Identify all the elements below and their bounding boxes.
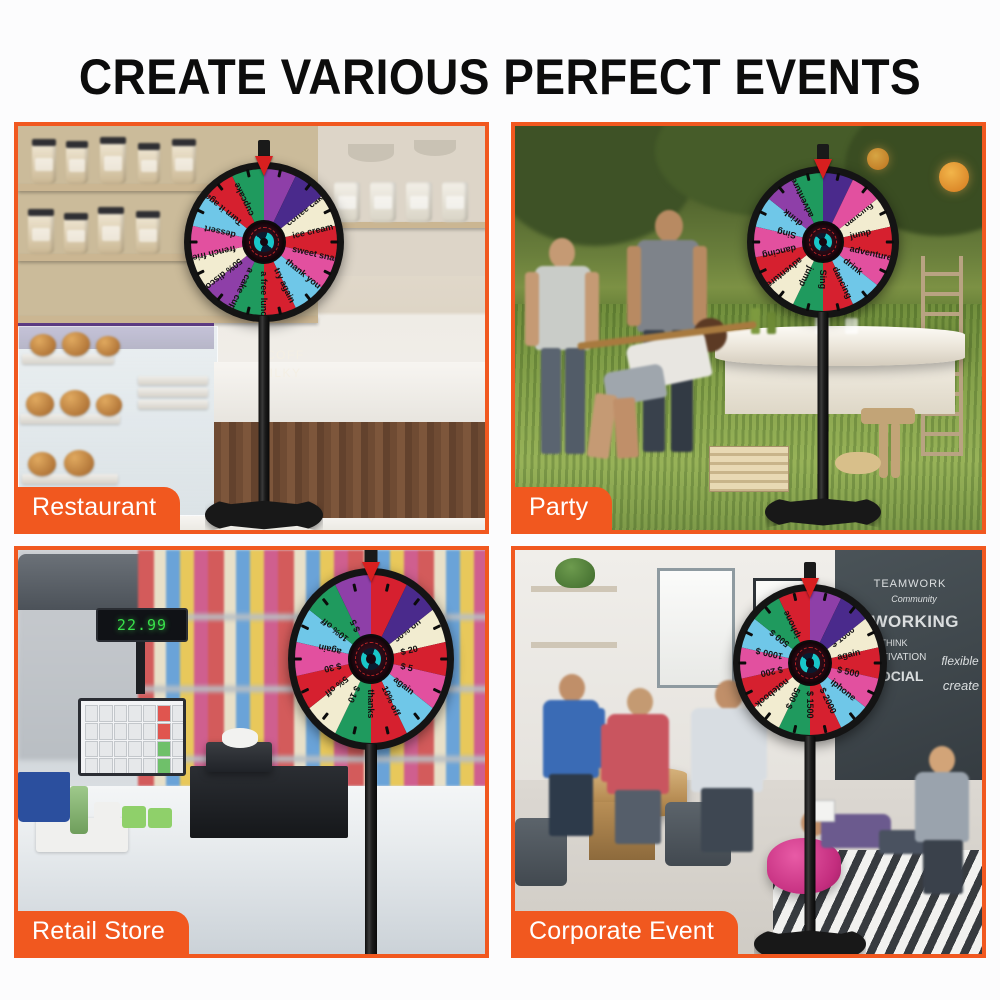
pos-key[interactable] bbox=[85, 741, 98, 758]
wheel-pole bbox=[259, 316, 270, 506]
hub-logo-icon bbox=[800, 653, 819, 673]
jar bbox=[98, 212, 124, 254]
pastry bbox=[64, 450, 94, 476]
pos-terminal-screen bbox=[78, 698, 186, 776]
wheel-pole bbox=[818, 312, 829, 504]
pos-key[interactable] bbox=[172, 705, 185, 722]
pos-key[interactable] bbox=[128, 723, 141, 740]
pos-key[interactable] bbox=[157, 705, 170, 722]
pos-key[interactable] bbox=[143, 723, 156, 740]
chalk-word-create: create bbox=[931, 678, 982, 693]
pos-key[interactable] bbox=[85, 723, 98, 740]
head bbox=[929, 746, 955, 774]
pos-display-stand bbox=[136, 642, 145, 694]
pos-key[interactable] bbox=[114, 758, 127, 775]
wheel-2[interactable]: jumpSingdancingjumpadventuredrinkdancing… bbox=[747, 166, 899, 318]
torso bbox=[607, 714, 669, 794]
wheel-peg bbox=[330, 241, 338, 244]
pointer-flag-icon bbox=[255, 156, 273, 176]
pos-key[interactable] bbox=[99, 705, 112, 722]
panel-retail-store[interactable]: 22.99 bbox=[14, 546, 489, 958]
wheel-peg bbox=[886, 241, 894, 244]
pos-key[interactable] bbox=[99, 758, 112, 775]
jar-lid bbox=[100, 137, 126, 144]
jar-lid bbox=[138, 143, 160, 150]
jar-lid bbox=[98, 207, 124, 214]
leg bbox=[541, 348, 561, 454]
wheel-peg bbox=[874, 662, 882, 665]
head bbox=[627, 688, 653, 716]
arm bbox=[601, 724, 615, 782]
pos-key[interactable] bbox=[143, 741, 156, 758]
prize-wheel-party[interactable]: jumpSingdancingjumpadventuredrinkdancing… bbox=[747, 144, 899, 530]
pos-customer-display: 22.99 bbox=[96, 608, 188, 642]
wheel-hub bbox=[348, 634, 394, 684]
cup bbox=[94, 802, 120, 826]
leg bbox=[613, 397, 639, 458]
wheel-base bbox=[765, 496, 881, 528]
wheel-pole bbox=[805, 736, 816, 936]
freezer-hood bbox=[18, 554, 148, 610]
torso bbox=[915, 772, 969, 842]
pos-key[interactable] bbox=[143, 705, 156, 722]
lantern bbox=[939, 162, 969, 192]
pastry bbox=[96, 394, 122, 416]
prize-wheel-restaurant[interactable]: cakefree coffeecoffee cakeice creamsweet… bbox=[184, 140, 344, 530]
jar-lid bbox=[64, 213, 88, 220]
pendant-lamp bbox=[348, 144, 394, 162]
panel-grid: COFF MILKY cakefree coffeecoffee cakeice… bbox=[14, 122, 986, 980]
pointer-flag-icon bbox=[814, 159, 832, 179]
badge-retail-store: Retail Store bbox=[18, 911, 189, 954]
produce-pack bbox=[122, 806, 146, 828]
poster-root: CREATE VARIOUS PERFECT EVENTS bbox=[0, 0, 1000, 1000]
window bbox=[657, 568, 735, 688]
badge-restaurant: Restaurant bbox=[18, 487, 180, 530]
jar bbox=[28, 214, 54, 254]
pos-key[interactable] bbox=[114, 723, 127, 740]
wheel-rim: thanks$ 1050% off$ 20$ 5again10% offthan… bbox=[288, 568, 454, 750]
badge-party: Party bbox=[515, 487, 612, 530]
wheel-peg bbox=[190, 241, 198, 244]
wheel-peg bbox=[753, 241, 761, 244]
prize-wheel-corporate[interactable]: 500 $3000 $$ 1000again$ 500iphone$ 2000$… bbox=[733, 562, 887, 958]
pos-key[interactable] bbox=[172, 741, 185, 758]
wheel-base bbox=[205, 498, 323, 532]
bottle bbox=[70, 786, 88, 834]
pos-keypad[interactable] bbox=[85, 705, 185, 775]
badge-corporate-event: Corporate Event bbox=[515, 911, 738, 954]
hub-logo-icon bbox=[254, 232, 273, 251]
legs bbox=[615, 790, 661, 844]
pos-key[interactable] bbox=[99, 741, 112, 758]
head bbox=[559, 674, 585, 702]
pos-key[interactable] bbox=[128, 758, 141, 775]
wheel-base bbox=[754, 928, 866, 958]
pendant-lamp bbox=[414, 140, 456, 156]
hub-logo-icon bbox=[361, 648, 381, 670]
wheel-hub bbox=[802, 221, 844, 263]
pos-key[interactable] bbox=[114, 741, 127, 758]
canister bbox=[442, 182, 468, 222]
wall-shelf bbox=[531, 642, 617, 648]
panel-party[interactable]: jumpSingdancingjumpadventuredrinkdancing… bbox=[511, 122, 986, 534]
pastry bbox=[28, 452, 56, 476]
canister bbox=[406, 182, 432, 222]
pastry-tray bbox=[22, 354, 114, 364]
legs bbox=[549, 774, 593, 836]
pos-key[interactable] bbox=[172, 758, 185, 775]
pos-key[interactable] bbox=[143, 758, 156, 775]
jar bbox=[64, 218, 88, 254]
pos-key[interactable] bbox=[128, 741, 141, 758]
wheel-peg bbox=[293, 658, 301, 661]
jar bbox=[136, 216, 160, 254]
wheel-hub bbox=[788, 640, 832, 686]
wheel-1[interactable]: cakefree coffeecoffee cakeice creamsweet… bbox=[184, 162, 344, 322]
wheel-rim: jumpSingdancingjumpadventuredrinkdancing… bbox=[747, 166, 899, 318]
wheel-rim: cakefree coffeecoffee cakeice creamsweet… bbox=[184, 162, 344, 322]
page-title: CREATE VARIOUS PERFECT EVENTS bbox=[40, 48, 960, 106]
jar-lid bbox=[136, 211, 160, 218]
jar-lid bbox=[32, 139, 56, 146]
produce-pack bbox=[148, 808, 172, 828]
pos-key[interactable] bbox=[157, 741, 170, 758]
pos-key[interactable] bbox=[128, 705, 141, 722]
jar bbox=[66, 146, 88, 184]
canister bbox=[370, 182, 396, 222]
jar bbox=[32, 144, 56, 184]
person-seated bbox=[537, 674, 607, 844]
hub-logo-icon bbox=[814, 233, 832, 251]
jar bbox=[100, 142, 126, 184]
wheel-hub bbox=[242, 220, 286, 264]
pastry bbox=[96, 336, 120, 356]
pastry bbox=[30, 334, 56, 356]
pastry bbox=[60, 390, 90, 416]
person-standing bbox=[907, 746, 977, 896]
jar bbox=[138, 148, 160, 184]
head bbox=[549, 238, 575, 268]
pointer-flag-icon bbox=[362, 562, 380, 582]
chalk-word-flexible: flexible bbox=[927, 654, 982, 668]
wheel-3[interactable]: thanks$ 1050% off$ 20$ 5again10% offthan… bbox=[288, 568, 454, 750]
pos-amount: 22.99 bbox=[117, 616, 167, 634]
legs bbox=[923, 840, 963, 894]
panel-corporate-event[interactable]: TEAMWORK Community COWORKING THINK MOTIV… bbox=[511, 546, 986, 958]
pos-key[interactable] bbox=[85, 705, 98, 722]
prize-wheel-retail[interactable]: thanks$ 1050% off$ 20$ 5again10% offthan… bbox=[288, 546, 454, 958]
pos-key[interactable] bbox=[172, 723, 185, 740]
pastry-tray bbox=[22, 474, 118, 484]
head bbox=[655, 210, 683, 242]
pos-key[interactable] bbox=[85, 758, 98, 775]
plant bbox=[555, 558, 595, 588]
pointer-flag-icon bbox=[801, 578, 819, 598]
jar-lid bbox=[66, 141, 88, 148]
wheel-peg bbox=[440, 658, 448, 661]
pos-key[interactable] bbox=[157, 723, 170, 740]
torso bbox=[535, 266, 591, 350]
shopping-basket[interactable] bbox=[18, 772, 70, 822]
leg bbox=[565, 348, 585, 454]
wheel-rim: 500 $3000 $$ 1000again$ 500iphone$ 2000$… bbox=[733, 584, 887, 742]
pos-key[interactable] bbox=[99, 723, 112, 740]
person-seated bbox=[601, 688, 677, 848]
wheel-pole bbox=[365, 744, 377, 956]
panel-restaurant[interactable]: COFF MILKY cakefree coffeecoffee cakeice… bbox=[14, 122, 489, 534]
arm bbox=[525, 272, 539, 346]
receipt-roll bbox=[222, 728, 258, 748]
wheel-4[interactable]: 500 $3000 $$ 1000again$ 500iphone$ 2000$… bbox=[733, 584, 887, 742]
pos-key[interactable] bbox=[157, 758, 170, 775]
jar-lid bbox=[28, 209, 54, 216]
pastry bbox=[62, 332, 90, 356]
pos-key[interactable] bbox=[114, 705, 127, 722]
wheel-peg bbox=[739, 662, 747, 665]
pastry bbox=[26, 392, 54, 416]
